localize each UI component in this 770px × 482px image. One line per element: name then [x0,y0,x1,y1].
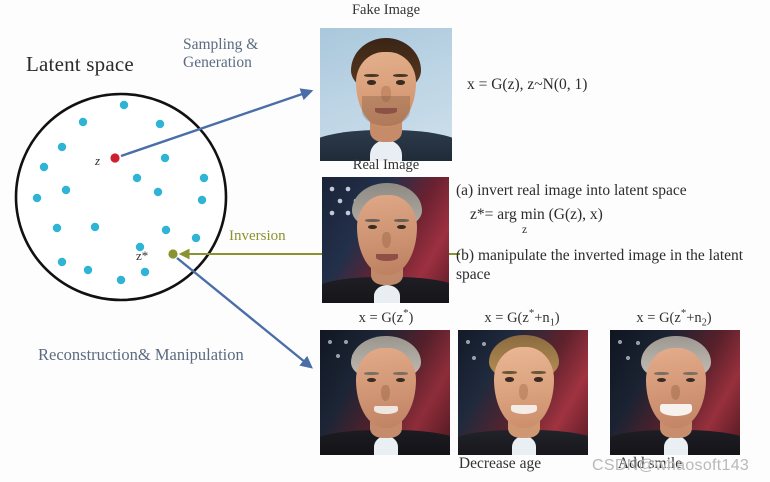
reconstructed-image [320,330,450,455]
real-image [322,177,449,303]
latent-point-z-star [168,249,177,258]
real-image-caption: Real Image [320,157,452,174]
generation-equation: x = G(z), z~N(0, 1) [467,76,587,94]
manipulated-image-2-caption: x = G(z*+n2) [604,307,744,329]
decrease-age-label: Decrease age [430,455,570,473]
latent-point-z-label: z [95,153,100,169]
csdn-watermark: CSDN@whaosoft143 [592,457,749,475]
step-a-text: (a) invert real image into latent space [456,182,687,200]
reconstructed-image-caption: x = G(z*) [316,307,456,327]
manipulated-image-2 [610,330,740,455]
step-a-formula-subscript: z [522,224,527,236]
manipulated-image-1-caption: x = G(z*+n1) [452,307,592,329]
step-b-text: (b) manipulate the inverted image in the… [456,246,756,284]
diagram-canvas: Latent space Sampling & Generation Inver… [0,0,770,482]
latent-point-z-star-label: z* [136,248,148,264]
latent-point-z [110,153,119,162]
latent-space-circle [16,94,226,300]
step-a-formula: z*= arg min (G(z), x) [470,206,603,224]
manipulated-image-1 [458,330,588,455]
fake-image-caption: Fake Image [320,2,452,19]
fake-image [320,28,452,161]
reconstruction-manipulation-arrow [177,258,311,367]
